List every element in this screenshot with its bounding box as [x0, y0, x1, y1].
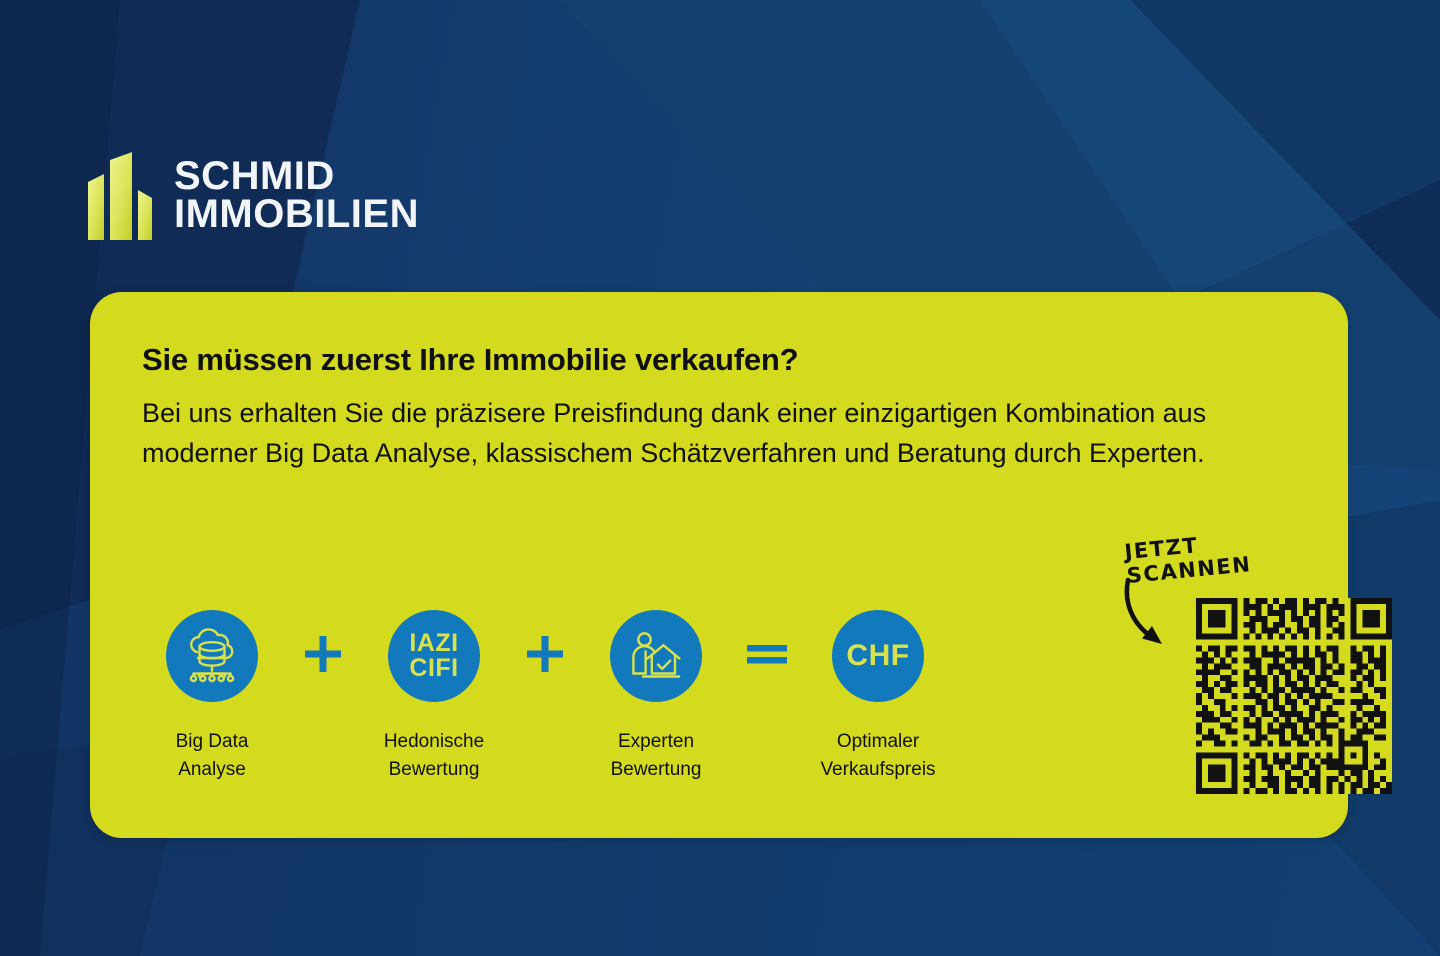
iazi-text: IAZI	[409, 631, 458, 656]
formula-step-big-data: Big Data Analyse	[138, 610, 286, 783]
brand-wordmark: SCHMID IMMOBILIEN	[174, 158, 419, 233]
label-line-1: Experten	[582, 728, 730, 756]
label-line-2: Analyse	[138, 756, 286, 784]
chf-text-wrap: CHF	[846, 641, 909, 671]
formula-step-expert: Experten Bewertung	[582, 610, 730, 783]
formula-step-label: Optimaler Verkaufspreis	[804, 728, 952, 783]
cifi-text: CIFI	[409, 656, 458, 681]
offer-card: Sie müssen zuerst Ihre Immobilie verkauf…	[90, 292, 1348, 838]
iazi-cifi-text: IAZI CIFI	[409, 631, 458, 681]
formula-step-label: Experten Bewertung	[582, 728, 730, 783]
chf-currency-icon: CHF	[832, 610, 924, 702]
plus-icon	[508, 610, 582, 674]
label-line-1: Big Data	[138, 728, 286, 756]
brand-logo: SCHMID IMMOBILIEN	[88, 152, 419, 240]
formula-step-label: Big Data Analyse	[138, 728, 286, 783]
building-logo-icon	[88, 152, 152, 240]
brand-line-1: SCHMID	[174, 158, 419, 196]
cloud-database-network-icon	[166, 610, 258, 702]
valuation-formula: Big Data Analyse IAZI CIFI	[138, 610, 952, 783]
brand-line-2: IMMOBILIEN	[174, 196, 419, 234]
formula-step-label: Hedonische Bewertung	[360, 728, 508, 783]
body-paragraph: Bei uns erhalten Sie die präzisere Preis…	[142, 394, 1292, 474]
formula-step-price: CHF Optimaler Verkaufspreis	[804, 610, 952, 783]
poster-canvas: SCHMID IMMOBILIEN Sie müssen zuerst Ihre…	[0, 0, 1440, 956]
card-body-text: Bei uns erhalten Sie die präzisere Preis…	[142, 394, 1292, 474]
plus-icon	[286, 610, 360, 674]
iazi-cifi-logo-icon: IAZI CIFI	[388, 610, 480, 702]
equals-icon	[730, 610, 804, 674]
label-line-2: Bewertung	[360, 756, 508, 784]
label-line-2: Verkaufspreis	[804, 756, 952, 784]
qr-code[interactable]	[1196, 598, 1392, 794]
label-line-1: Hedonische	[360, 728, 508, 756]
label-line-1: Optimaler	[804, 728, 952, 756]
expert-house-check-icon	[610, 610, 702, 702]
label-line-2: Bewertung	[582, 756, 730, 784]
page-title: Sie müssen zuerst Ihre Immobilie verkauf…	[142, 342, 798, 378]
chf-text: CHF	[846, 641, 909, 671]
scan-block: JETZT SCANNEN	[1100, 540, 1330, 800]
formula-step-hedonic: IAZI CIFI Hedonische Bewertung	[360, 610, 508, 783]
